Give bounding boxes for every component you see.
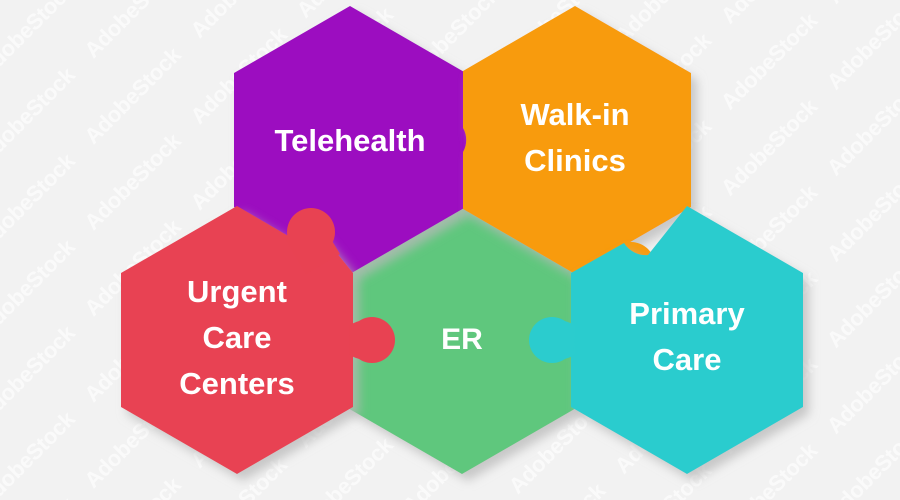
urgent-care-centers-right-tab-knob <box>349 317 395 363</box>
urgent-care-centers-top-tab-knob <box>287 208 335 256</box>
er-label: ER <box>441 323 483 356</box>
walkin-clinics-label-line-2: Clinics <box>524 143 626 178</box>
telehealth-label: Telehealth <box>274 123 425 158</box>
primary-care-left-tab-knob <box>529 317 575 363</box>
urgent-care-centers-label-line-1: Urgent <box>187 274 287 309</box>
urgent-care-centers-label-line-2: Care <box>203 320 272 355</box>
urgent-care-centers-label-line-3: Centers <box>179 366 294 401</box>
infographic-canvas: AdobeStockAdobeStockAdobeStockAdobeStock… <box>0 0 900 500</box>
walkin-clinics-label-line-1: Walk-in <box>520 97 629 132</box>
primary-care-label-line-2: Care <box>653 342 722 377</box>
hexagon-puzzle-diagram: ER Telehealth Walk-in Clinics Primary <box>0 0 900 500</box>
primary-care-label-line-1: Primary <box>629 296 745 331</box>
